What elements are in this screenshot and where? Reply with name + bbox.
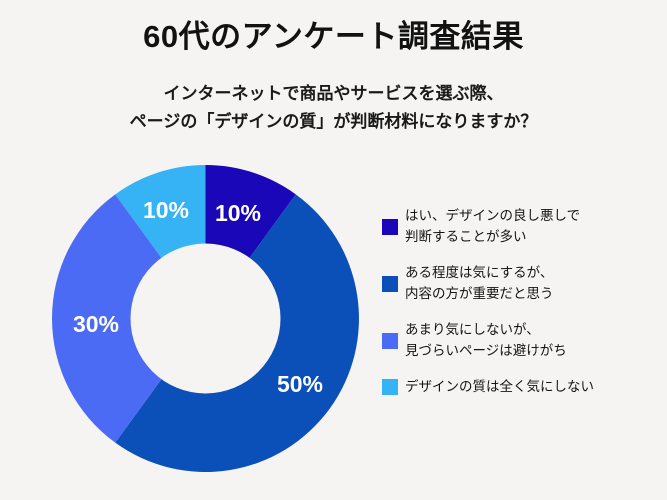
legend-color-swatch-4 (382, 379, 398, 395)
chart-legend: はい、デザインの良し悪しで 判断することが多い ある程度は気にするが、 内容の方… (382, 206, 662, 398)
donut-slice-label: 50% (277, 371, 323, 397)
legend-label-3: あまり気にしないが、 見づらいページは避けがち (405, 320, 567, 361)
donut-slice-label: 10% (215, 200, 261, 226)
donut-slice-label: 30% (73, 311, 119, 337)
donut-slice-label: 10% (143, 197, 189, 223)
donut-chart-svg: 10%50%30%10% (52, 165, 359, 472)
subtitle-line-1: インターネットで商品やサービスを選ぶ際、 (0, 80, 667, 108)
legend-label-2: ある程度は気にするが、 内容の方が重要だと思う (405, 263, 554, 304)
legend-label-4: デザインの質は全く気にしない (405, 377, 594, 398)
donut-chart: 10%50%30%10% (52, 165, 359, 472)
infographic-canvas: 60代のアンケート調査結果 インターネットで商品やサービスを選ぶ際、 ページの「… (0, 0, 667, 500)
legend-label-1: はい、デザインの良し悪しで 判断することが多い (405, 206, 580, 247)
subtitle-line-2: ページの「デザインの質」が判断材料になりますか？ (0, 108, 667, 136)
page-title: 60代のアンケート調査結果 (0, 18, 667, 55)
legend-color-swatch-2 (382, 276, 398, 292)
legend-item[interactable]: はい、デザインの良し悪しで 判断することが多い (382, 206, 662, 247)
legend-item[interactable]: デザインの質は全く気にしない (382, 377, 662, 398)
legend-item[interactable]: ある程度は気にするが、 内容の方が重要だと思う (382, 263, 662, 304)
page-subtitle: インターネットで商品やサービスを選ぶ際、 ページの「デザインの質」が判断材料にな… (0, 80, 667, 136)
legend-color-swatch-1 (382, 219, 398, 235)
legend-color-swatch-3 (382, 333, 398, 349)
legend-item[interactable]: あまり気にしないが、 見づらいページは避けがち (382, 320, 662, 361)
donut-hole (131, 244, 281, 394)
